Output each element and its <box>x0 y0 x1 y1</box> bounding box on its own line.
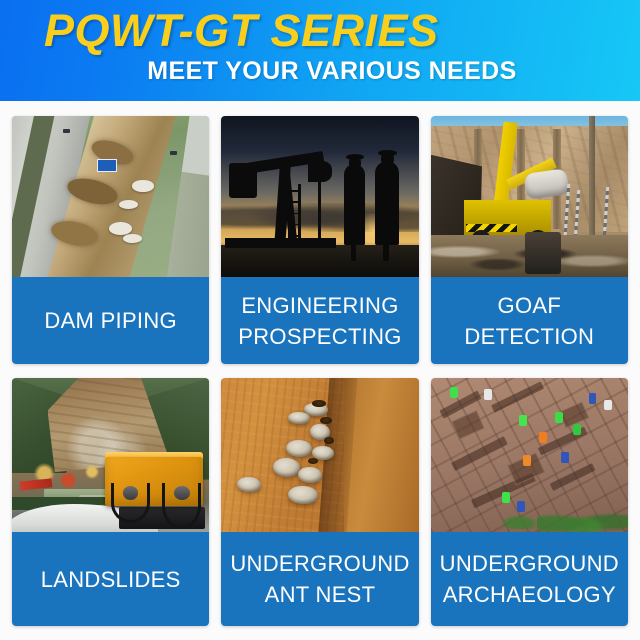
worker-shape <box>539 432 547 443</box>
ant-tunnel-hole-shape <box>312 400 326 408</box>
ant-nest-chamber-shape <box>286 440 312 457</box>
vehicle-shape <box>170 151 177 155</box>
ladder-rung-shape <box>288 213 300 215</box>
page-header: PQWT-GT SERIES MEET YOUR VARIOUS NEEDS <box>0 0 640 101</box>
ground-shape <box>221 245 418 277</box>
utility-pole-shape <box>589 116 595 238</box>
worker-shape <box>555 412 563 423</box>
label-line: ARCHAEOLOGY <box>443 579 616 610</box>
card-label-landslides: LANDSLIDES <box>12 532 209 626</box>
mud-pump-shape <box>525 232 561 274</box>
label-line: PROSPECTING <box>238 321 401 352</box>
page-title: PQWT-GT SERIES <box>44 5 439 57</box>
ant-tunnel-hole-shape <box>320 417 332 425</box>
sandbag-shape <box>132 180 154 191</box>
ant-nest-chamber-shape <box>298 467 322 482</box>
photo-landslides <box>12 378 209 532</box>
water-shape <box>181 116 209 176</box>
ladder-rung-shape <box>288 190 300 192</box>
label-line: DETECTION <box>464 321 594 352</box>
card-underground-archaeology[interactable]: UNDERGROUND ARCHAEOLOGY <box>431 378 628 626</box>
card-landslides[interactable]: LANDSLIDES <box>12 378 209 626</box>
card-label-engineering-prospecting: ENGINEERING PROSPECTING <box>221 277 418 364</box>
ladder-rung-shape <box>288 224 300 226</box>
label-line: UNDERGROUND <box>440 548 619 579</box>
label-line: ENGINEERING <box>241 290 398 321</box>
photo-engineering-prospecting <box>221 116 418 277</box>
vegetation-shape <box>490 510 549 528</box>
card-label-dam-piping: DAM PIPING <box>12 277 209 364</box>
label-line: DAM PIPING <box>44 305 177 336</box>
card-label-goaf-detection: GOAF DETECTION <box>431 277 628 364</box>
product-application-grid: DAM PIPING <box>0 101 640 640</box>
worker-shape <box>450 387 458 398</box>
worker-shape <box>519 415 527 426</box>
ant-nest-chamber-shape <box>288 486 318 504</box>
pumpjack-base-shape <box>225 238 336 248</box>
pumpjack-counterweight-shape <box>229 163 257 198</box>
worker-leg-shape <box>351 225 357 260</box>
card-dam-piping[interactable]: DAM PIPING <box>12 116 209 364</box>
worker-shape <box>502 492 510 503</box>
label-line: ANT NEST <box>265 579 376 610</box>
ladder-rung-shape <box>288 201 300 203</box>
ant-nest-chamber-shape <box>273 458 301 476</box>
ant-tunnel-hole-shape <box>324 437 334 445</box>
card-goaf-detection[interactable]: GOAF DETECTION <box>431 116 628 364</box>
photo-dam-piping <box>12 116 209 277</box>
vehicle-shape <box>63 129 70 133</box>
card-underground-ant-nest[interactable]: UNDERGROUND ANT NEST <box>221 378 418 626</box>
vegetation-shape <box>537 504 628 532</box>
photo-underground-archaeology <box>431 378 628 532</box>
photo-goaf-detection <box>431 116 628 277</box>
worker-leg-shape <box>383 222 389 261</box>
card-label-underground-ant-nest: UNDERGROUND ANT NEST <box>221 532 418 626</box>
ant-nest-chamber-shape <box>288 412 310 424</box>
worker-shape <box>604 400 612 411</box>
cable-shape <box>162 483 201 529</box>
worker-shape <box>573 424 581 435</box>
worker-shape <box>517 501 525 512</box>
road-sign-shape <box>97 159 117 172</box>
ladder-rung-shape <box>288 235 300 237</box>
label-line: GOAF <box>498 290 562 321</box>
worker-shape <box>561 452 569 463</box>
label-line: LANDSLIDES <box>41 564 181 595</box>
label-line: UNDERGROUND <box>230 548 409 579</box>
worker-shape <box>589 393 597 404</box>
page-subtitle: MEET YOUR VARIOUS NEEDS <box>0 57 640 86</box>
worker-shape <box>523 455 531 466</box>
worker-shape <box>484 389 492 400</box>
hazard-stripe-shape <box>466 224 517 232</box>
card-engineering-prospecting[interactable]: ENGINEERING PROSPECTING <box>221 116 418 364</box>
ant-nest-chamber-shape <box>237 477 261 492</box>
card-label-underground-archaeology: UNDERGROUND ARCHAEOLOGY <box>431 532 628 626</box>
cable-shape <box>111 483 150 523</box>
pumpjack-polished-rod-shape <box>318 177 321 245</box>
photo-underground-ant-nest <box>221 378 418 532</box>
